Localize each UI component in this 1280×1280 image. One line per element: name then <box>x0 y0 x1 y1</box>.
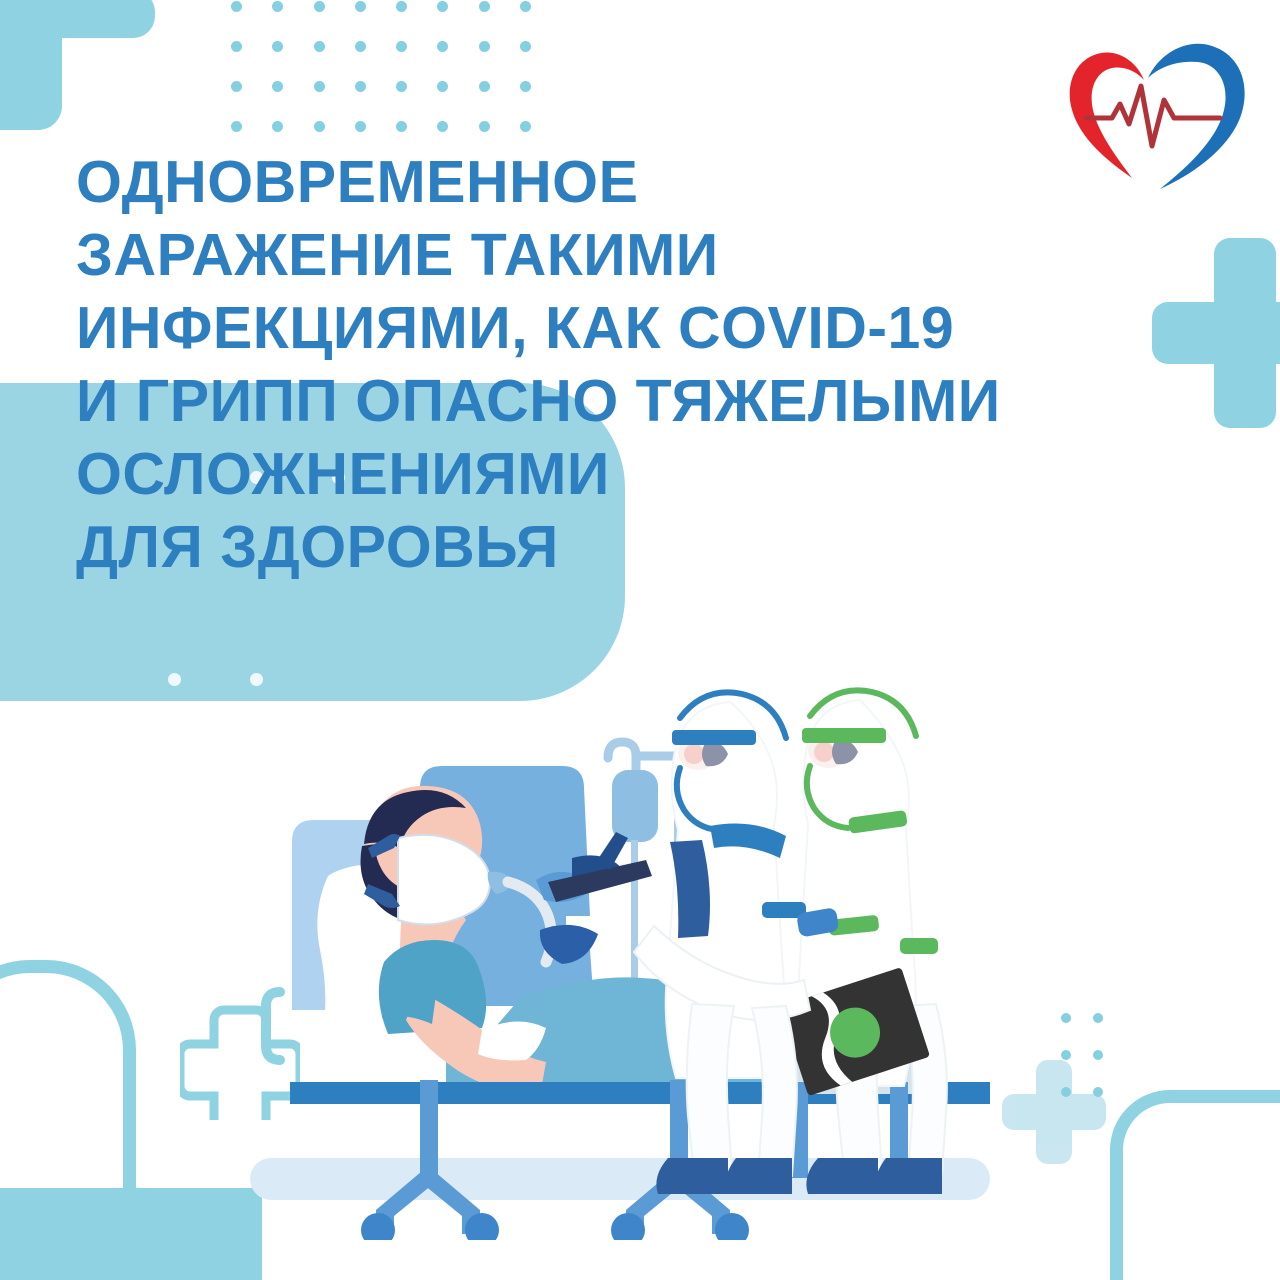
poster-canvas: Одновременное заражение такими инфекциям… <box>0 0 1280 1280</box>
arch-outline-decoration <box>0 960 136 1213</box>
blue-worker-boot <box>656 1158 728 1194</box>
blue-worker-boot <box>725 1158 792 1194</box>
dot-grid-bottom-right <box>1050 1000 1114 1110</box>
green-worker-boot <box>875 1158 942 1194</box>
blue-goggle-band <box>672 730 756 745</box>
medical-worker-blue <box>536 692 840 1194</box>
panel-dot <box>168 673 181 686</box>
blue-worker-cheek <box>684 744 704 764</box>
page-title: Одновременное заражение такими инфекциям… <box>76 146 1076 584</box>
hospital-ward-illustration <box>250 590 1050 1240</box>
bed-side-rail <box>266 992 280 1060</box>
logo-ecg-line <box>1086 86 1220 146</box>
green-goggle-band <box>802 728 886 743</box>
floor-bar-decoration <box>0 1188 262 1280</box>
dot-grid-top <box>216 0 546 146</box>
iv-bag <box>612 770 658 842</box>
heart-ecg-logo <box>1048 26 1258 190</box>
medical-cross-icon <box>1152 238 1280 428</box>
patient-sleeve <box>382 970 438 1024</box>
green-worker-cheek <box>814 742 834 762</box>
corner-step-shape-vertical <box>0 0 62 130</box>
green-worker-boot <box>806 1158 878 1194</box>
green-arm-strap <box>900 938 938 954</box>
rounded-corner-line-decoration <box>1110 1090 1280 1280</box>
